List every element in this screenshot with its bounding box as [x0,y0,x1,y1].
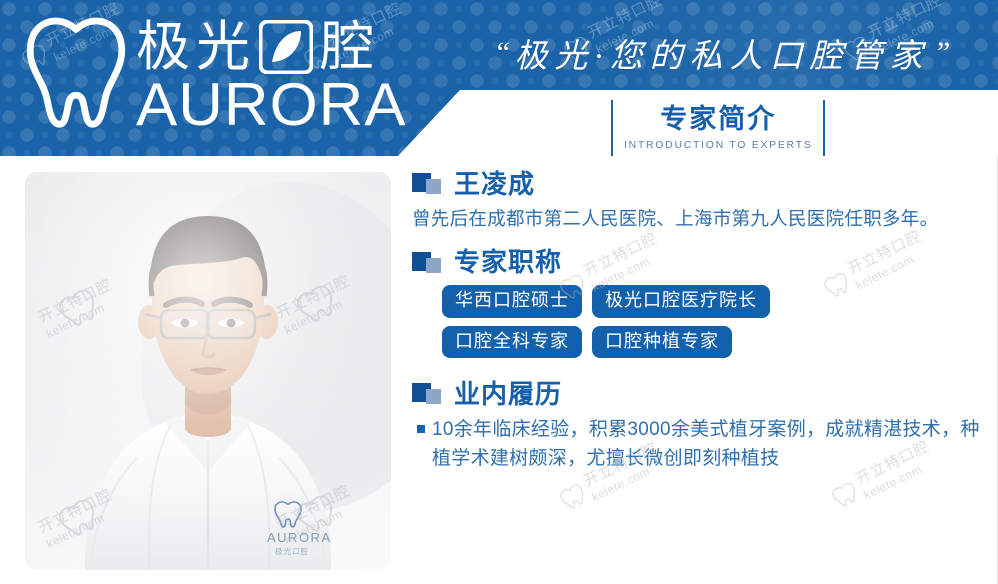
tagline-close-quote: ” [930,36,955,70]
brand-name-cn-right: 腔 [320,20,380,74]
page-title: 专家简介 INTRODUCTION TO EXPERTS [600,100,836,156]
two-square-marker-icon [412,251,444,275]
tooth-watermark-icon [829,480,862,511]
expert-experience-list: 10余年临床经验，积累3000余美式植牙案例，成就精湛技术，种植学术建树颇深，尤… [412,415,990,474]
tag-item[interactable]: 华西口腔硕士 [442,285,582,318]
title-right-rule [823,100,825,156]
tag-item[interactable]: 极光口腔医疗院长 [592,285,770,318]
expert-experience-heading: 业内履历 [454,380,562,409]
expert-bio: 曾先后在成都市第二人民医院、上海市第九人民医院任职多年。 [412,205,990,233]
expert-name-row: 王凌成 [412,170,990,199]
square-bullet-icon [417,425,425,433]
header-banner: 极光 腔 AURORA “ 极光·您的私人口腔管家 ” 开立特口腔 [0,0,998,156]
tagline-text: 极光·您的私人口腔管家 [514,29,929,77]
expert-details: 王凌成 曾先后在成都市第二人民医院、上海市第九人民医院任职多年。 专家职称 华西… [412,170,990,474]
tag-item[interactable]: 口腔全科专家 [442,326,582,359]
tag-item[interactable]: 口腔种植专家 [592,326,732,359]
brand-tagline: “ 极光·您的私人口腔管家 ” [452,22,992,84]
expert-experience-heading-row: 业内履历 [412,380,990,409]
expert-titles-heading: 专家职称 [454,248,562,277]
brand-logo[interactable]: 极光 腔 AURORA [18,8,399,140]
tagline-open-quote: “ [490,36,515,70]
two-square-marker-icon [412,382,444,406]
brand-name-cn: 极光 腔 [136,16,399,78]
portrait-illustration: AURORA 极光口腔 [25,172,391,570]
leaf-square-icon [259,20,313,74]
tag-row: 口腔全科专家 口腔种植专家 [442,326,990,359]
tooth-watermark-icon [557,482,590,513]
list-item: 10余年临床经验，积累3000余美式植牙案例，成就精湛技术，种植学术建树颇深，尤… [417,415,990,474]
two-square-marker-icon [412,172,444,196]
brand-name-cn-left: 极光 [136,20,256,74]
title-left-rule [611,100,613,156]
expert-titles-heading-row: 专家职称 [412,248,990,277]
list-item-text: 10余年临床经验，积累3000余美式植牙案例，成就精湛技术，种植学术建树颇深，尤… [432,415,990,474]
brand-name-en: AURORA [136,76,407,133]
page-title-cn: 专家简介 [660,105,776,135]
tooth-outline-icon [18,15,134,133]
page-title-en: INTRODUCTION TO EXPERTS [624,139,812,151]
expert-title-tags: 华西口腔硕士 极光口腔医疗院长 口腔全科专家 口腔种植专家 [412,285,990,358]
expert-profile-page: 极光 腔 AURORA “ 极光·您的私人口腔管家 ” 开立特口腔 [0,0,998,584]
tag-row: 华西口腔硕士 极光口腔医疗院长 [442,285,990,318]
brand-wordmark: 极光 腔 AURORA [136,16,399,133]
doctor-portrait: AURORA 极光口腔 开立特口腔 kelete.com 开立特口腔 kelet… [25,172,391,570]
expert-name: 王凌成 [454,170,535,199]
